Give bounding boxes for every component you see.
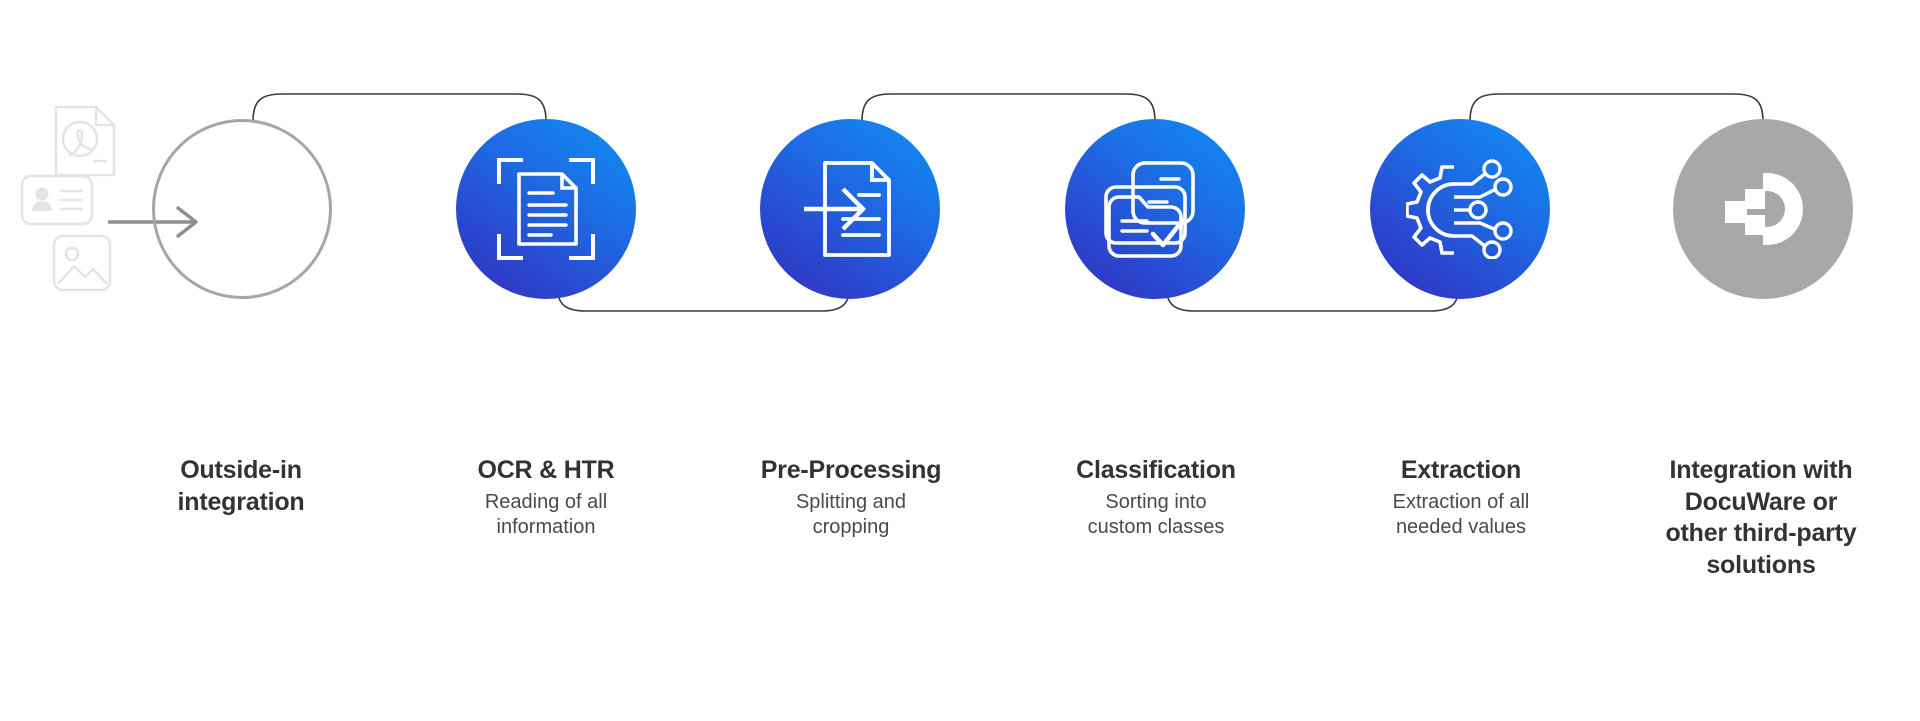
- label-sub-extraction: Extraction of all needed values: [1286, 490, 1636, 540]
- sub-line: cropping: [813, 516, 890, 538]
- folders-check-icon: [1103, 157, 1207, 261]
- label-pre-processing: Pre-Processing Splitting and cropping: [676, 455, 1026, 540]
- label-title-pre-processing: Pre-Processing: [676, 455, 1026, 486]
- sub-line: custom classes: [1088, 516, 1225, 538]
- connector-bottom-1: [557, 285, 850, 311]
- title-line: DocuWare or: [1685, 488, 1837, 516]
- label-sub-ocr-htr: Reading of all information: [371, 490, 721, 540]
- docuware-logo-icon: [1711, 157, 1815, 261]
- label-sub-pre-processing: Splitting and cropping: [676, 490, 1026, 540]
- sub-line: needed values: [1396, 516, 1526, 538]
- connector-top-1: [253, 94, 546, 121]
- label-title-classification: Classification: [981, 455, 1331, 486]
- label-ocr-htr: OCR & HTR Reading of all information: [371, 455, 721, 540]
- label-title-integration: Integration with DocuWare or other third…: [1586, 455, 1920, 581]
- gear-circuit-icon: [1406, 159, 1514, 259]
- sub-line: information: [497, 516, 596, 538]
- step-node-pre-processing[interactable]: [760, 119, 940, 299]
- connector-top-3: [1470, 94, 1763, 121]
- step-node-classification[interactable]: [1065, 119, 1245, 299]
- label-extraction: Extraction Extraction of all needed valu…: [1286, 455, 1636, 540]
- document-import-arrow-icon: [799, 157, 901, 261]
- diagram-canvas: Outside-in integration OCR & HTR Reading…: [0, 0, 1920, 721]
- title-line: solutions: [1706, 551, 1815, 579]
- label-title-ocr-htr: OCR & HTR: [371, 455, 721, 486]
- connector-bottom-2: [1166, 285, 1459, 311]
- document-scan-icon: [496, 157, 596, 261]
- label-classification: Classification Sorting into custom class…: [981, 455, 1331, 540]
- label-title-extraction: Extraction: [1286, 455, 1636, 486]
- sub-line: Sorting into: [1105, 491, 1206, 513]
- image-file-icon: [52, 234, 112, 297]
- pdf-document-icon: [52, 103, 120, 184]
- label-outside-in: Outside-in integration: [66, 455, 416, 518]
- id-card-icon: [20, 174, 94, 231]
- title-line: Outside-in: [180, 456, 302, 484]
- sub-line: Extraction of all: [1393, 491, 1530, 513]
- step-labels: Outside-in integration OCR & HTR Reading…: [0, 455, 1920, 675]
- title-line: Integration with: [1670, 456, 1853, 484]
- label-title-outside-in: Outside-in integration: [66, 455, 416, 518]
- title-line: other third-party: [1665, 519, 1856, 547]
- title-line: integration: [178, 488, 305, 516]
- step-node-integration[interactable]: [1673, 119, 1853, 299]
- label-integration: Integration with DocuWare or other third…: [1586, 455, 1920, 581]
- connector-top-2: [862, 94, 1155, 121]
- step-node-extraction[interactable]: [1370, 119, 1550, 299]
- label-sub-classification: Sorting into custom classes: [981, 490, 1331, 540]
- step-node-ocr-htr[interactable]: [456, 119, 636, 299]
- sub-line: Reading of all: [485, 491, 607, 513]
- sub-line: Splitting and: [796, 491, 906, 513]
- outside-in-circle[interactable]: [152, 119, 332, 299]
